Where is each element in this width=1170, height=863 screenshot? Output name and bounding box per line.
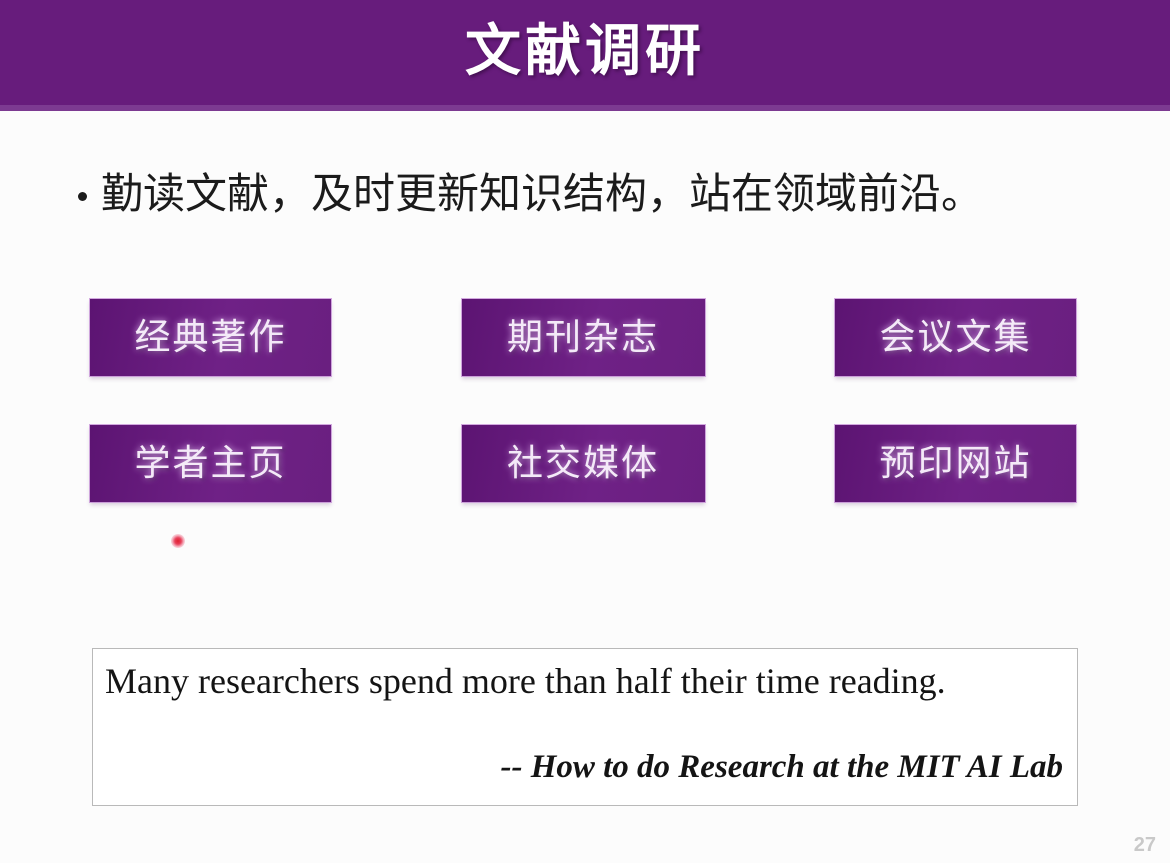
tile-label: 期刊杂志 (507, 320, 659, 356)
tile-label: 预印网站 (879, 446, 1031, 482)
tile-label: 会议文集 (879, 320, 1031, 356)
quote-box: Many researchers spend more than half th… (92, 648, 1078, 806)
tile-classic-works[interactable]: 经典著作 (90, 299, 331, 376)
tile-conference-proceedings[interactable]: 会议文集 (835, 299, 1076, 376)
bullet-point-icon (78, 192, 87, 201)
quote-attribution: -- How to do Research at the MIT AI Lab (105, 749, 1063, 786)
bullet-item-label: 勤读文献，及时更新知识结构，站在领域前沿。 (101, 170, 983, 218)
tile-label: 学者主页 (134, 446, 286, 482)
page-title: 文献调研 (465, 24, 705, 80)
slide-title-bar: 文献调研 (0, 0, 1170, 105)
tile-social-media[interactable]: 社交媒体 (462, 425, 705, 502)
tile-row-one: 经典著作 期刊杂志 会议文集 (90, 299, 1076, 376)
quote-text: Many researchers spend more than half th… (105, 660, 1063, 703)
bullet-list-item: 勤读文献，及时更新知识结构，站在领域前沿。 (78, 170, 1118, 218)
title-bar-underline (0, 105, 1170, 111)
tile-preprint-sites[interactable]: 预印网站 (835, 425, 1076, 502)
slide-page-number: 27 (1134, 834, 1156, 857)
tile-journals[interactable]: 期刊杂志 (462, 299, 705, 376)
tile-scholar-homepage[interactable]: 学者主页 (90, 425, 331, 502)
tile-label: 社交媒体 (507, 446, 659, 482)
resource-tile-grid: 经典著作 期刊杂志 会议文集 学者主页 社交媒体 预印网站 (90, 299, 1076, 502)
laser-pointer-icon (171, 534, 185, 548)
tile-row-two: 学者主页 社交媒体 预印网站 (90, 425, 1076, 502)
tile-label: 经典著作 (134, 320, 286, 356)
